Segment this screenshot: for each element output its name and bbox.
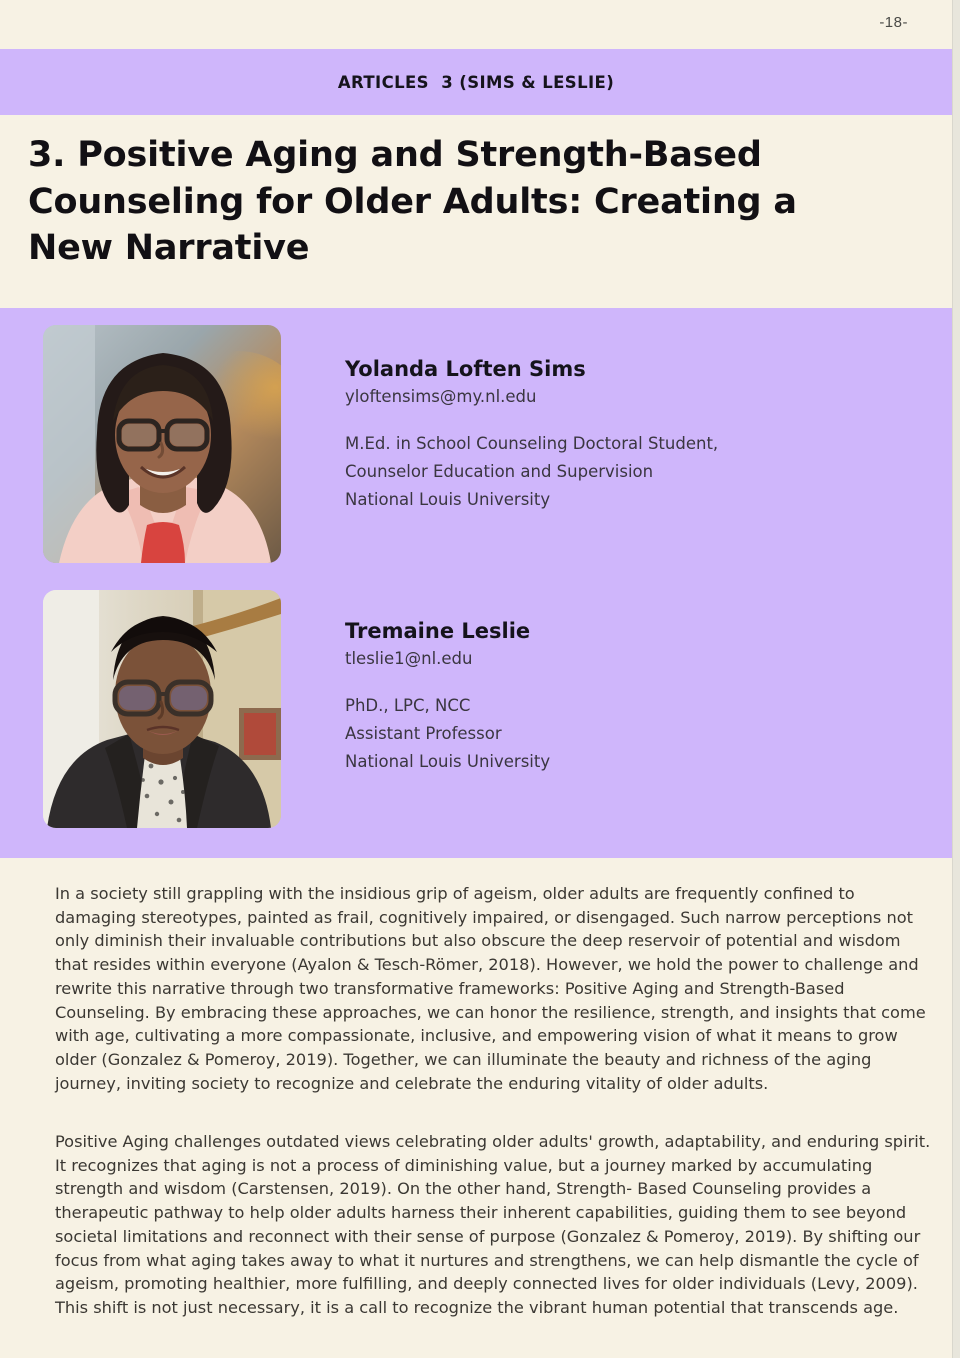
author-email[interactable]: yloftensims@my.nl.edu — [345, 385, 905, 408]
affiliation-line: National Louis University — [345, 748, 905, 776]
author-info-1: Yolanda Loften Sims yloftensims@my.nl.ed… — [345, 325, 905, 514]
authors-section: Yolanda Loften Sims yloftensims@my.nl.ed… — [0, 308, 952, 858]
title-section: 3. Positive Aging and Strength-Based Cou… — [0, 115, 952, 308]
document-page: -18- ARTICLES 3 (SIMS & LESLIE) 3. Posit… — [0, 0, 960, 1358]
body-paragraph: Positive Aging challenges outdated views… — [55, 1130, 937, 1320]
page-title: 3. Positive Aging and Strength-Based Cou… — [28, 132, 828, 272]
affiliation-line: PhD., LPC, NCC — [345, 692, 905, 720]
affiliation-line: M.Ed. in School Counseling Doctoral Stud… — [345, 430, 905, 458]
affiliation-line: National Louis University — [345, 486, 905, 514]
running-head-band: ARTICLES 3 (SIMS & LESLIE) — [0, 49, 952, 115]
page-edge-strip — [952, 0, 960, 1358]
author-info-2: Tremaine Leslie tleslie1@nl.edu PhD., LP… — [345, 590, 905, 776]
author-email[interactable]: tleslie1@nl.edu — [345, 647, 905, 670]
page-number: -18- — [879, 14, 908, 31]
author-name: Yolanda Loften Sims — [345, 355, 905, 383]
running-head-text: ARTICLES 3 (SIMS & LESLIE) — [338, 73, 614, 92]
author-name: Tremaine Leslie — [345, 617, 905, 645]
author-photo-1 — [43, 325, 281, 563]
affiliation-line: Assistant Professor — [345, 720, 905, 748]
body-paragraph: In a society still grappling with the in… — [55, 882, 937, 1096]
author-affiliation: PhD., LPC, NCC Assistant Professor Natio… — [345, 692, 905, 775]
body-section: In a society still grappling with the in… — [0, 858, 952, 1358]
affiliation-line: Counselor Education and Supervision — [345, 458, 905, 486]
author-photo-2 — [43, 590, 281, 828]
author-affiliation: M.Ed. in School Counseling Doctoral Stud… — [345, 430, 905, 513]
